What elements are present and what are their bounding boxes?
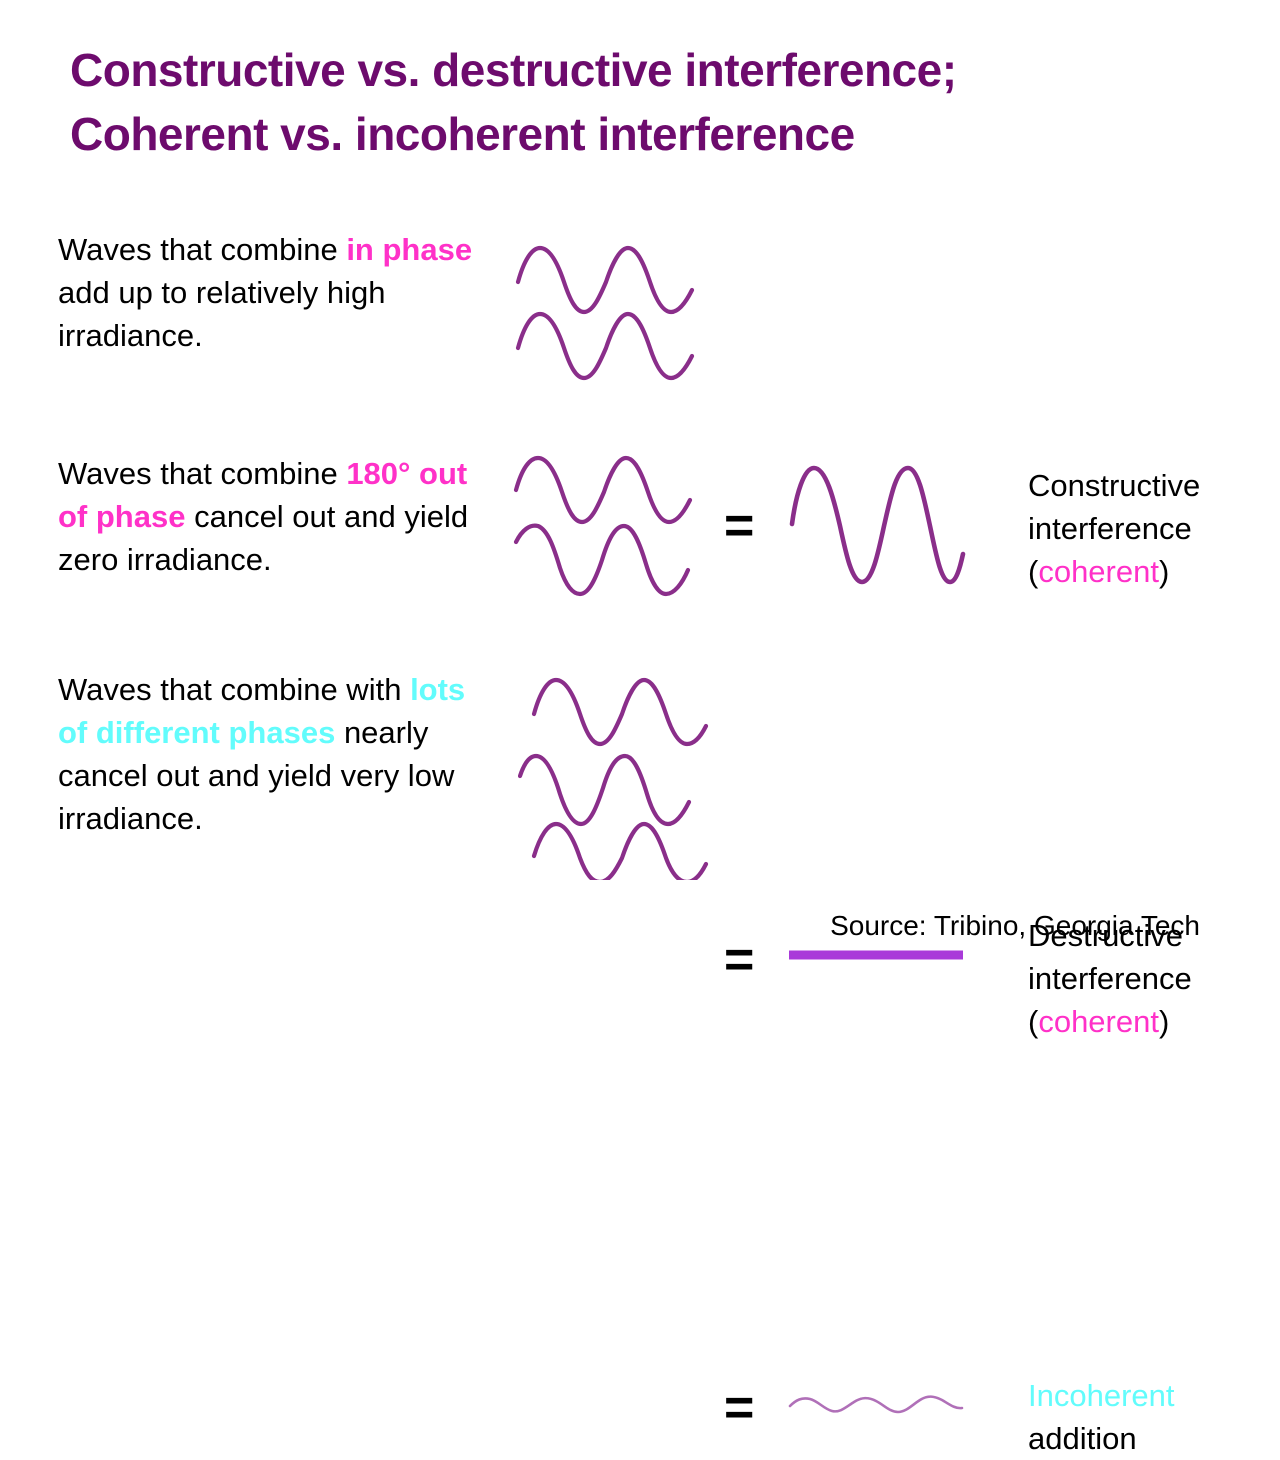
row-description-destructive: Waves that combine 180° out of phase can…	[58, 452, 488, 581]
input-wave-stack-incoherent	[518, 660, 718, 880]
row-description-constructive: Waves that combine in phase add up to re…	[58, 228, 488, 357]
interference-row-destructive: Waves that combine 180° out of phase can…	[0, 452, 1280, 602]
result-flat-line-destructive	[786, 940, 966, 970]
label-highlight-coherent: coherent	[1038, 1004, 1159, 1039]
page-title: Constructive vs. destructive interferenc…	[70, 38, 1210, 166]
label-text-plain-a: addition	[1028, 1421, 1137, 1456]
result-wave-incoherent-path	[790, 1397, 962, 1412]
input-wave-3-path	[534, 824, 706, 880]
row-description-incoherent: Waves that combine with lots of differen…	[58, 668, 488, 840]
row-label-incoherent: Incoherent addition	[1028, 1374, 1278, 1460]
input-wave-1-path	[534, 680, 706, 744]
desc-text-plain-a: Waves that combine with	[58, 672, 410, 707]
input-wave-2-path	[520, 756, 689, 824]
input-wave-stack-destructive	[512, 452, 712, 602]
input-wave-1-path	[518, 248, 692, 312]
result-wave-incoherent	[786, 1384, 966, 1424]
input-wave-stack-constructive	[512, 236, 712, 386]
desc-text-plain-a: Waves that combine	[58, 456, 346, 491]
equals-sign-incoherent: =	[724, 1382, 754, 1434]
desc-text-plain-b: add up to relatively high irradiance.	[58, 275, 385, 353]
interference-row-constructive: Waves that combine in phase add up to re…	[0, 228, 1280, 388]
interference-row-incoherent: Waves that combine with lots of differen…	[0, 668, 1280, 878]
desc-text-plain-a: Waves that combine	[58, 232, 346, 267]
input-wave-2-path	[518, 314, 692, 378]
source-attribution: Source: Tribino, Georgia Tech	[0, 908, 1200, 944]
input-wave-2-path	[516, 526, 688, 594]
label-text-plain-b: )	[1159, 1004, 1169, 1039]
label-highlight-incoherent: Incoherent	[1028, 1378, 1175, 1413]
input-wave-1-path	[516, 458, 690, 522]
desc-highlight-in-phase: in phase	[346, 232, 472, 267]
